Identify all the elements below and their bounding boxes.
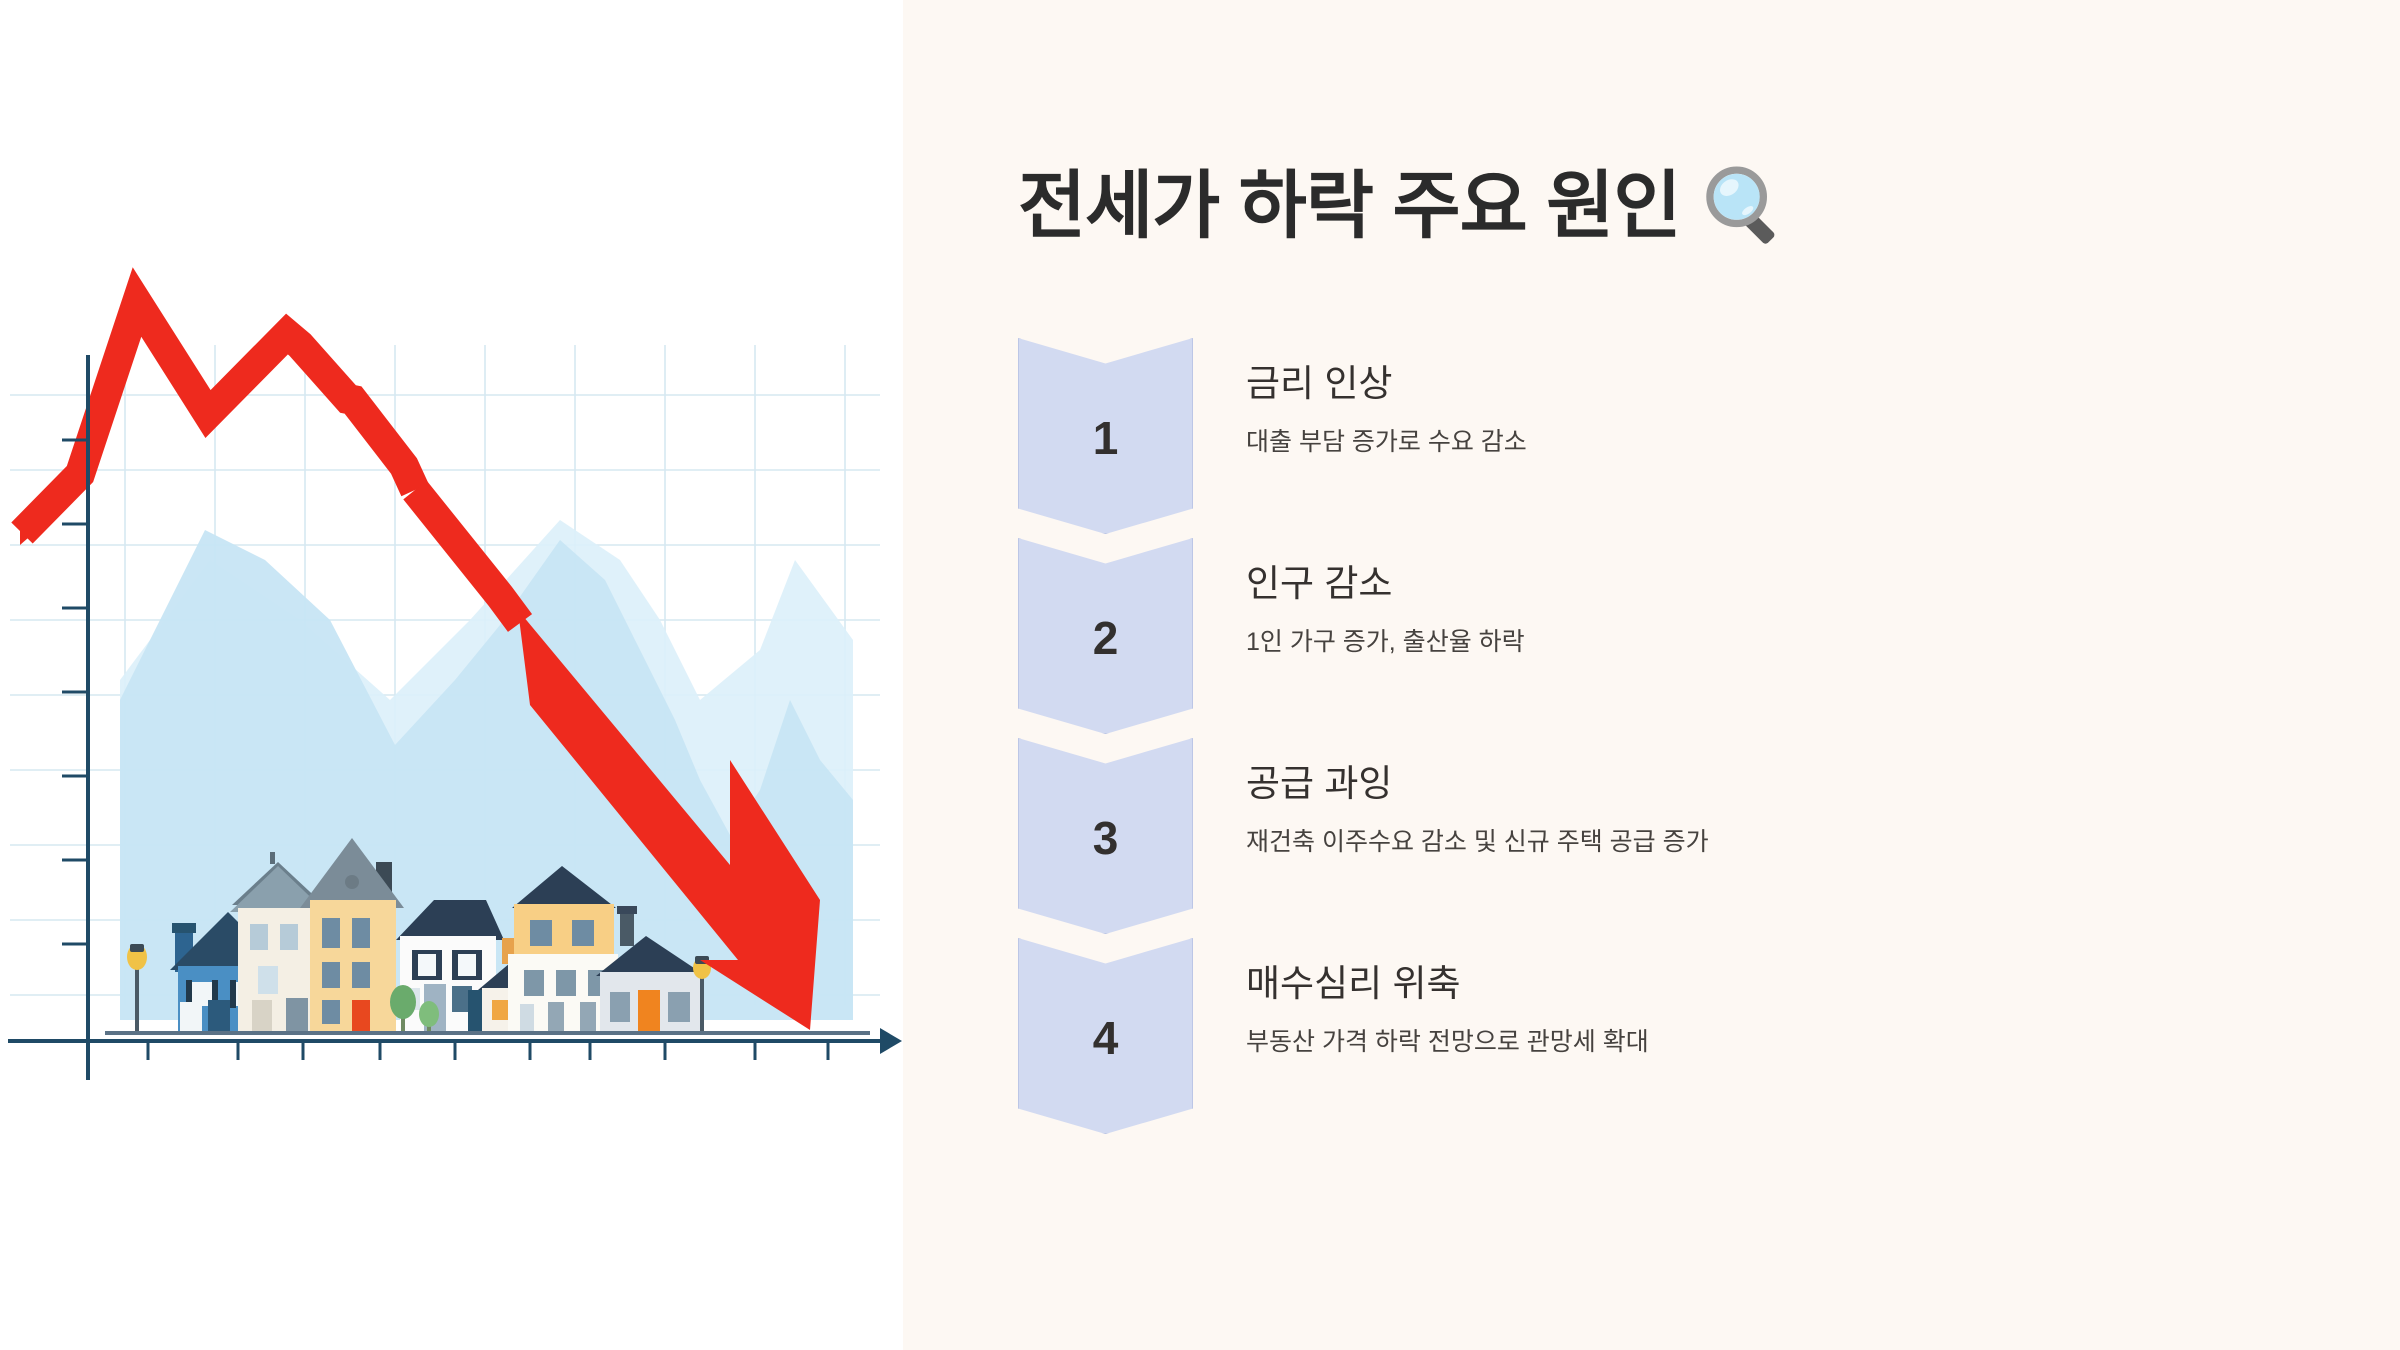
step-description: 대출 부담 증가로 수요 감소: [1246, 426, 1527, 459]
list-item[interactable]: 4 매수심리 위축 부동산 가격 하락 전망으로 관망세 확대: [903, 938, 2400, 1138]
step-text-block: 인구 감소 1인 가구 증가, 출산율 하락: [1246, 538, 1525, 659]
list-item[interactable]: 2 인구 감소 1인 가구 증가, 출산율 하락: [903, 538, 2400, 738]
step-number: 2: [1093, 615, 1119, 661]
step-title: 매수심리 위축: [1246, 962, 1649, 1006]
step-text-block: 매수심리 위축 부동산 가격 하락 전망으로 관망세 확대: [1246, 938, 1649, 1059]
step-badge-3: 3: [1018, 738, 1193, 934]
step-badge-4: 4: [1018, 938, 1193, 1134]
step-badge-1: 1: [1018, 338, 1193, 534]
list-item[interactable]: 1 금리 인상 대출 부담 증가로 수요 감소: [903, 338, 2400, 538]
step-text-block: 금리 인상 대출 부담 증가로 수요 감소: [1246, 338, 1527, 459]
step-title: 공급 과잉: [1246, 762, 1709, 806]
list-item[interactable]: 3 공급 과잉 재건축 이주수요 감소 및 신규 주택 공급 증가: [903, 738, 2400, 938]
step-description: 재건축 이주수요 감소 및 신규 주택 공급 증가: [1246, 826, 1709, 859]
page-title-text: 전세가 하락 주요 원인: [1018, 169, 1680, 243]
step-title: 금리 인상: [1246, 362, 1527, 406]
page-title: 전세가 하락 주요 원인: [1018, 160, 1790, 252]
step-badge-2: 2: [1018, 538, 1193, 734]
content-panel: 전세가 하락 주요 원인 1: [903, 0, 2400, 1350]
slide-root: 전세가 하락 주요 원인 1: [0, 0, 2400, 1350]
step-number: 3: [1093, 815, 1119, 861]
step-text-block: 공급 과잉 재건축 이주수요 감소 및 신규 주택 공급 증가: [1246, 738, 1709, 859]
step-description: 부동산 가격 하락 전망으로 관망세 확대: [1246, 1026, 1649, 1059]
declining-price-chart-illustration: [0, 0, 903, 1350]
step-title: 인구 감소: [1246, 562, 1525, 606]
step-description: 1인 가구 증가, 출산율 하락: [1246, 626, 1525, 659]
step-number: 1: [1093, 415, 1119, 461]
steps-list: 1 금리 인상 대출 부담 증가로 수요 감소 2 인구 감소 1인 가구 증가…: [903, 338, 2400, 1138]
magnifying-glass-icon: [1698, 160, 1790, 252]
illustration-panel: [0, 0, 903, 1350]
step-number: 4: [1093, 1015, 1119, 1061]
